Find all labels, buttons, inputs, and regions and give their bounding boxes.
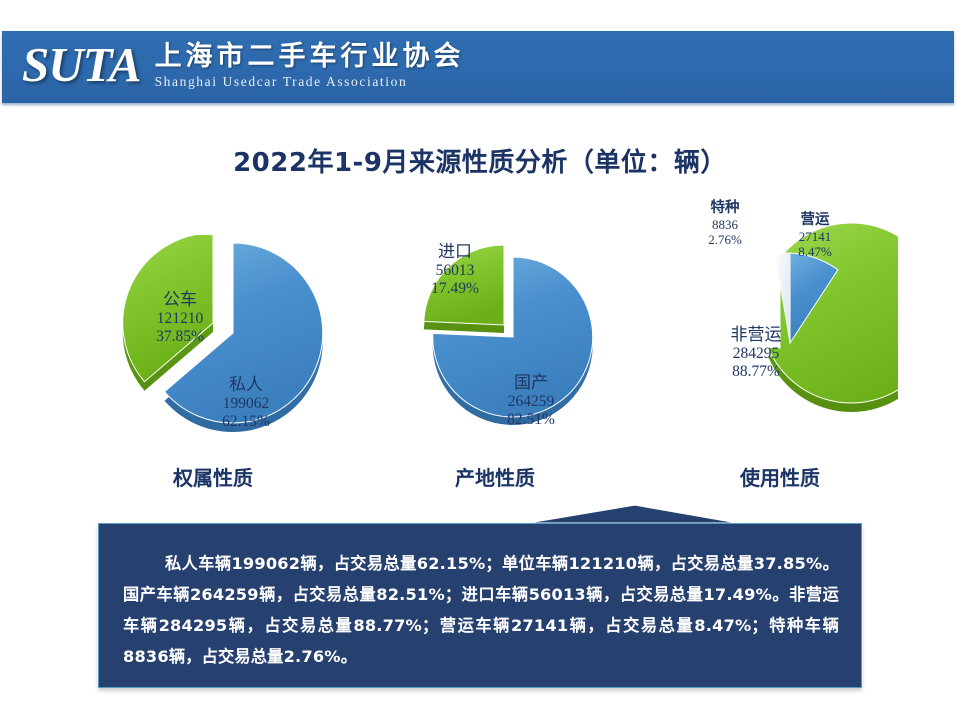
pie-label-nonoperating-name: 非营运 — [696, 325, 816, 345]
pie-label-special-value: 8836 — [677, 217, 773, 232]
pie-label-nonoperating: 非营运 284295 88.77% — [696, 325, 816, 382]
association-logo: SUTA 上海市二手车行业协会 Shanghai Usedcar Trade A… — [22, 35, 465, 95]
pie-label-special: 特种 8836 2.76% — [677, 200, 773, 248]
pie-label-domestic-value: 264259 — [476, 393, 586, 411]
pie-label-import-value: 56013 — [400, 262, 510, 280]
pie-label-nonoperating-value: 284295 — [696, 345, 816, 363]
pie-label-private-percent: 62.15% — [186, 413, 306, 431]
pie-chart-usage: 特种 8836 2.76% 营运 27141 8.47% 非营运 284295 … — [672, 200, 898, 445]
pie-label-operating: 营运 27141 8.47% — [767, 212, 863, 260]
org-name-en: Shanghai Usedcar Trade Association — [155, 73, 465, 90]
charts-area: 公车 121210 37.85% 私人 199062 62.15% — [0, 190, 960, 450]
pie-label-import: 进口 56013 17.49% — [400, 242, 510, 299]
pie-label-special-name: 特种 — [677, 200, 773, 217]
pie-chart-ownership: 公车 121210 37.85% 私人 199062 62.15% — [108, 235, 338, 435]
pie-label-nonoperating-percent: 88.77% — [696, 363, 816, 381]
summary-box: 私人车辆199062辆，占交易总量62.15%；单位车辆121210辆，占交易总… — [98, 523, 862, 688]
page-title: 2022年1-9月来源性质分析（单位：辆） — [0, 142, 960, 179]
pie-label-domestic: 国产 264259 82.51% — [476, 373, 586, 430]
pie-chart-origin: 进口 56013 17.49% 国产 264259 82.51% — [408, 235, 618, 435]
caption-usage: 使用性质 — [680, 462, 880, 491]
pie-label-special-percent: 2.76% — [677, 232, 773, 247]
pie-label-private-name: 私人 — [186, 375, 306, 395]
pie-label-domestic-name: 国产 — [476, 373, 586, 393]
caption-origin: 产地性质 — [395, 462, 595, 491]
pie-label-import-name: 进口 — [400, 242, 510, 262]
caption-ownership: 权属性质 — [113, 462, 313, 491]
pie-label-operating-percent: 8.47% — [767, 244, 863, 259]
pie-label-public-percent: 37.85% — [120, 328, 240, 346]
pie-label-domestic-percent: 82.51% — [476, 411, 586, 429]
pie-label-private-value: 199062 — [186, 395, 306, 413]
pie-label-operating-value: 27141 — [767, 229, 863, 244]
pie-label-private: 私人 199062 62.15% — [186, 375, 306, 432]
pie-label-public-value: 121210 — [120, 310, 240, 328]
org-name-cn: 上海市二手车行业协会 — [155, 42, 465, 72]
suta-logo-text: SUTA — [22, 35, 155, 95]
pie-label-public: 公车 121210 37.85% — [120, 290, 240, 347]
header-banner: SUTA 上海市二手车行业协会 Shanghai Usedcar Trade A… — [2, 31, 954, 103]
pie-label-public-name: 公车 — [120, 290, 240, 310]
pie-label-operating-name: 营运 — [767, 212, 863, 229]
summary-text: 私人车辆199062辆，占交易总量62.15%；单位车辆121210辆，占交易总… — [123, 548, 839, 672]
pie-label-import-percent: 17.49% — [400, 280, 510, 298]
org-name-block: 上海市二手车行业协会 Shanghai Usedcar Trade Associ… — [155, 42, 465, 90]
summary-panel: 私人车辆199062辆，占交易总量62.15%；单位车辆121210辆，占交易总… — [98, 500, 864, 692]
